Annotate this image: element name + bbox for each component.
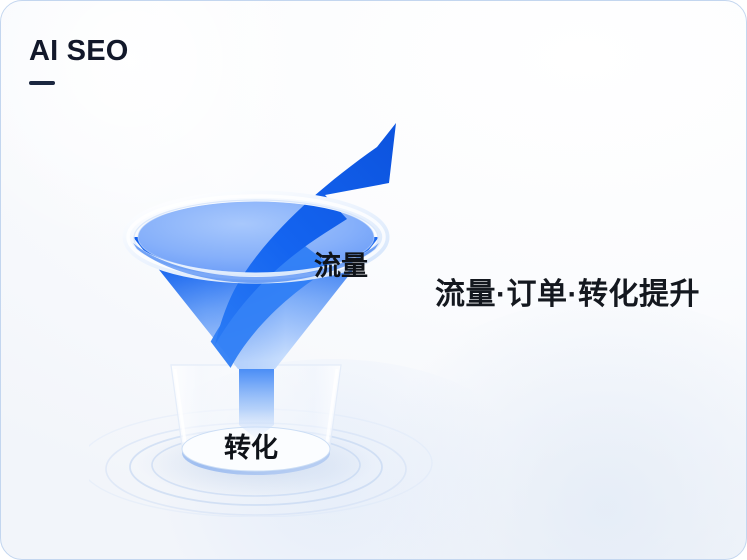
page-title: AI SEO	[29, 37, 129, 66]
tagline-text: 流量·订单·转化提升	[435, 278, 700, 311]
ai-seo-card: AI SEO 流量·订单·转化提升	[0, 0, 747, 560]
funnel-stem	[239, 359, 274, 439]
heading-block: AI SEO	[29, 37, 129, 85]
funnel-label-conversion: 转化	[224, 435, 278, 462]
title-underline-rule	[29, 81, 55, 85]
funnel-label-traffic: 流量	[314, 253, 368, 280]
